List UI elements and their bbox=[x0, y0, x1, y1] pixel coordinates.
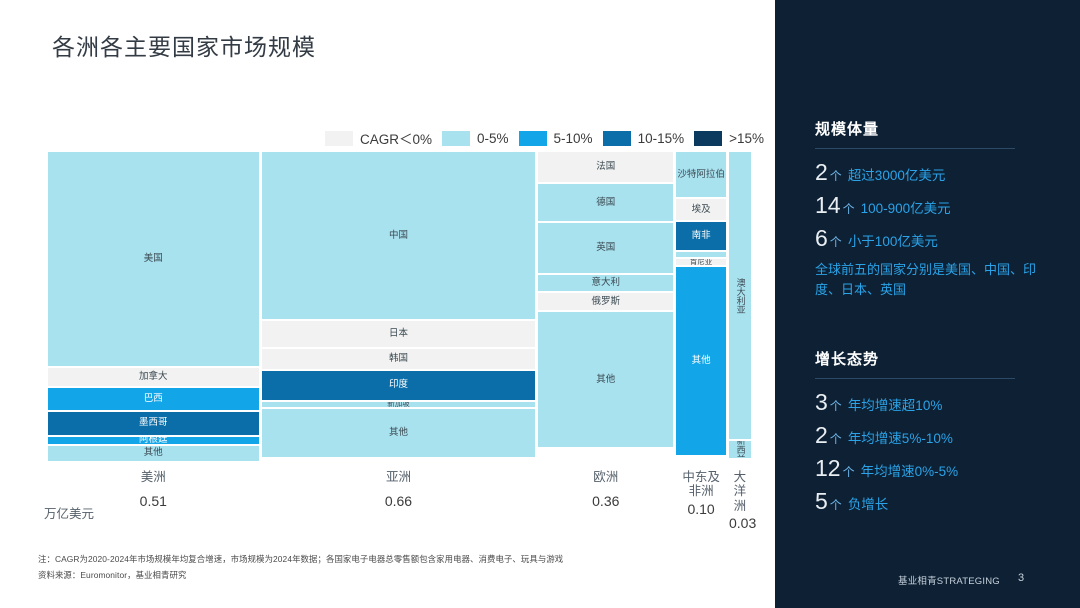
axis-group: 亚洲0.66 bbox=[262, 470, 536, 509]
legend-swatch bbox=[325, 131, 353, 146]
treemap-cell[interactable]: 俄罗斯 bbox=[538, 293, 673, 310]
axis-region-label: 大洋 洲 bbox=[729, 470, 751, 513]
treemap-cell-label: 埃及 bbox=[692, 205, 711, 215]
treemap-cell[interactable]: 中国 bbox=[262, 152, 536, 319]
legend-swatch bbox=[442, 131, 470, 146]
legend-label: 5-10% bbox=[554, 131, 593, 146]
axis-region-label: 中东及 非洲 bbox=[676, 470, 726, 499]
legend-label: 10-15% bbox=[638, 131, 685, 146]
panel-stat-text: 超过3000亿美元 bbox=[848, 164, 946, 184]
treemap-cell[interactable]: 巴西 bbox=[48, 388, 259, 410]
treemap-cell[interactable]: 新加坡 bbox=[262, 402, 536, 407]
treemap-cell-label: 沙特阿拉伯 bbox=[677, 170, 725, 180]
panel-divider bbox=[815, 378, 1015, 379]
treemap-cell[interactable]: 墨西哥 bbox=[48, 412, 259, 435]
panel-stat-unit: 个 bbox=[830, 397, 842, 414]
treemap-cell-label: 日本 bbox=[389, 329, 408, 339]
legend-label: 0-5% bbox=[477, 131, 509, 146]
treemap-cell-label: 韩国 bbox=[389, 354, 408, 364]
treemap-column: 美国加拿大巴西墨西哥阿根廷其他 bbox=[48, 152, 259, 463]
treemap-cell-label: 印度 bbox=[389, 380, 408, 390]
legend-swatch bbox=[603, 131, 631, 146]
panel-stat-row: 3个年均增速超10% bbox=[815, 391, 1055, 414]
treemap-cell[interactable]: 日本 bbox=[262, 321, 536, 347]
treemap-cell-label: 墨西哥 bbox=[139, 418, 168, 428]
treemap-cell[interactable]: 埃及 bbox=[676, 199, 726, 220]
treemap-cell[interactable]: 英国 bbox=[538, 223, 673, 273]
treemap-column: 中国日本韩国印度新加坡其他 bbox=[262, 152, 536, 463]
panel-stat-unit: 个 bbox=[830, 496, 842, 513]
legend-item: 5-10% bbox=[519, 131, 593, 146]
treemap-cell[interactable]: 印度 bbox=[262, 371, 536, 400]
legend-item: CAGR＜0% bbox=[325, 128, 432, 148]
treemap-cell-label: 巴西 bbox=[144, 394, 163, 404]
panel-section: 增长态势3个年均增速超10%2个年均增速5%-10%12个年均增速0%-5%5个… bbox=[815, 348, 1055, 523]
legend-label: CAGR＜0% bbox=[360, 128, 432, 148]
treemap-cell-label: 英国 bbox=[596, 243, 615, 253]
panel-stat-number: 2 bbox=[815, 161, 828, 184]
treemap-cell[interactable]: 意大利 bbox=[538, 275, 673, 291]
axis-unit-label: 万亿美元 bbox=[44, 503, 94, 522]
axis-group: 欧洲0.36 bbox=[538, 470, 673, 509]
panel-section-note: 全球前五的国家分别是美国、中国、印度、日本、英国 bbox=[815, 260, 1055, 300]
treemap-cell-label: 阿根廷 bbox=[139, 437, 168, 444]
treemap-cell[interactable]: 其他 bbox=[48, 446, 259, 461]
treemap-column: 澳大利亚新西兰 bbox=[729, 152, 751, 463]
treemap-cell-label: 加拿大 bbox=[139, 372, 168, 382]
treemap-cell[interactable]: 其他 bbox=[676, 267, 726, 455]
treemap-cell[interactable]: 其他 bbox=[262, 409, 536, 457]
axis-region-value: 0.36 bbox=[538, 493, 673, 509]
page-title: 各洲各主要国家市场规模 bbox=[52, 28, 316, 62]
treemap-cell-label: 中国 bbox=[389, 231, 408, 241]
axis-region-value: 0.10 bbox=[676, 501, 726, 517]
legend-item: 10-15% bbox=[603, 131, 685, 146]
footnote-line: 资料来源：Euromonitor，基业相青研究 bbox=[38, 568, 758, 584]
treemap-cell-label: 其他 bbox=[144, 448, 163, 458]
treemap-cell-label: 澳大利亚 bbox=[735, 278, 744, 314]
treemap-cell[interactable]: 南非 bbox=[676, 222, 726, 250]
panel-stat-number: 3 bbox=[815, 391, 828, 414]
treemap-cell-label: 其他 bbox=[596, 375, 615, 385]
panel-stat-text: 小于100亿美元 bbox=[848, 230, 938, 250]
treemap-cell[interactable]: 沙特阿拉伯 bbox=[676, 152, 726, 197]
panel-stat-unit: 个 bbox=[830, 233, 842, 250]
footer-brand: 基业相青STRATEGING bbox=[898, 573, 1000, 587]
panel-stat-number: 6 bbox=[815, 227, 828, 250]
axis-region-label: 欧洲 bbox=[538, 470, 673, 484]
legend-swatch bbox=[519, 131, 547, 146]
treemap-cell-label: 新加坡 bbox=[387, 402, 410, 407]
treemap-cell-label: 法国 bbox=[596, 162, 615, 172]
treemap-cell-label: 新西兰 bbox=[735, 441, 744, 458]
panel-stat-row: 2个年均增速5%-10% bbox=[815, 424, 1055, 447]
treemap-cell[interactable]: 德国 bbox=[538, 184, 673, 221]
panel-stat-number: 2 bbox=[815, 424, 828, 447]
treemap-cell[interactable]: 尼日利亚 bbox=[676, 252, 726, 257]
panel-section-heading: 规模体量 bbox=[815, 118, 1055, 139]
legend-item: 0-5% bbox=[442, 131, 509, 146]
treemap-cell[interactable]: 法国 bbox=[538, 152, 673, 182]
panel-stat-row: 6个小于100亿美元 bbox=[815, 227, 1055, 250]
panel-stat-text: 年均增速超10% bbox=[848, 394, 943, 414]
treemap-cell[interactable]: 澳大利亚 bbox=[729, 152, 751, 439]
treemap-cell[interactable]: 美国 bbox=[48, 152, 259, 366]
footnotes: 注：CAGR为2020-2024年市场规模年均复合增速，市场规模为2024年数据… bbox=[38, 552, 758, 584]
axis-group: 中东及 非洲0.10 bbox=[676, 470, 726, 517]
chart-axis: 美洲0.51亚洲0.66欧洲0.36中东及 非洲0.10大洋 洲0.03 bbox=[0, 470, 775, 530]
treemap-chart: 美国加拿大巴西墨西哥阿根廷其他中国日本韩国印度新加坡其他法国德国英国意大利俄罗斯… bbox=[48, 152, 750, 463]
treemap-cell-label: 南非 bbox=[692, 231, 711, 241]
panel-stat-text: 年均增速5%-10% bbox=[848, 427, 953, 447]
treemap-cell-label: 美国 bbox=[144, 254, 163, 264]
panel-stat-number: 5 bbox=[815, 490, 828, 513]
axis-region-value: 0.66 bbox=[262, 493, 536, 509]
treemap-cell[interactable]: 新西兰 bbox=[729, 441, 751, 458]
treemap-cell[interactable]: 其他 bbox=[538, 312, 673, 447]
panel-stat-row: 2个超过3000亿美元 bbox=[815, 161, 1055, 184]
legend-swatch bbox=[694, 131, 722, 146]
treemap-column: 沙特阿拉伯埃及南非尼日利亚肯尼亚其他 bbox=[676, 152, 726, 463]
axis-group: 大洋 洲0.03 bbox=[729, 470, 751, 531]
panel-stat-row: 12个年均增速0%-5% bbox=[815, 457, 1055, 480]
panel-stat-number: 14 bbox=[815, 194, 841, 217]
treemap-cell-label: 其他 bbox=[692, 356, 711, 366]
slide-left-panel: 各洲各主要国家市场规模 CAGR＜0%0-5%5-10%10-15%>15% 美… bbox=[0, 0, 775, 608]
treemap-cell[interactable]: 阿根廷 bbox=[48, 437, 259, 444]
treemap-cell-label: 德国 bbox=[596, 198, 615, 208]
treemap-column: 法国德国英国意大利俄罗斯其他 bbox=[538, 152, 673, 463]
panel-stat-number: 12 bbox=[815, 457, 841, 480]
treemap-cell-label: 肯尼亚 bbox=[690, 259, 713, 265]
legend-label: >15% bbox=[729, 131, 764, 146]
panel-section: 规模体量2个超过3000亿美元14个100-900亿美元6个小于100亿美元全球… bbox=[815, 118, 1055, 300]
slide-right-panel: 规模体量2个超过3000亿美元14个100-900亿美元6个小于100亿美元全球… bbox=[775, 0, 1080, 608]
panel-stat-unit: 个 bbox=[830, 430, 842, 447]
legend-item: >15% bbox=[694, 131, 764, 146]
panel-stat-unit: 个 bbox=[843, 200, 855, 217]
panel-stat-unit: 个 bbox=[843, 463, 855, 480]
treemap-cell[interactable]: 加拿大 bbox=[48, 368, 259, 386]
axis-region-label: 亚洲 bbox=[262, 470, 536, 484]
axis-region-value: 0.03 bbox=[729, 515, 751, 531]
treemap-cell[interactable]: 韩国 bbox=[262, 349, 536, 368]
panel-section-heading: 增长态势 bbox=[815, 348, 1055, 369]
panel-stat-text: 100-900亿美元 bbox=[861, 197, 951, 217]
panel-stat-text: 年均增速0%-5% bbox=[861, 460, 959, 480]
axis-region-label: 美洲 bbox=[48, 470, 259, 484]
treemap-cell-label: 其他 bbox=[389, 428, 408, 438]
panel-stat-text: 负增长 bbox=[848, 493, 889, 513]
panel-stat-row: 5个负增长 bbox=[815, 490, 1055, 513]
treemap-cell-label: 俄罗斯 bbox=[592, 297, 621, 307]
panel-divider bbox=[815, 148, 1015, 149]
chart-legend: CAGR＜0%0-5%5-10%10-15%>15% bbox=[325, 128, 774, 148]
footer-page-number: 3 bbox=[1018, 572, 1024, 584]
treemap-cell[interactable]: 肯尼亚 bbox=[676, 259, 726, 265]
panel-stat-unit: 个 bbox=[830, 167, 842, 184]
treemap-cell-label: 意大利 bbox=[592, 278, 621, 288]
panel-stat-row: 14个100-900亿美元 bbox=[815, 194, 1055, 217]
footnote-line: 注：CAGR为2020-2024年市场规模年均复合增速，市场规模为2024年数据… bbox=[38, 552, 758, 568]
